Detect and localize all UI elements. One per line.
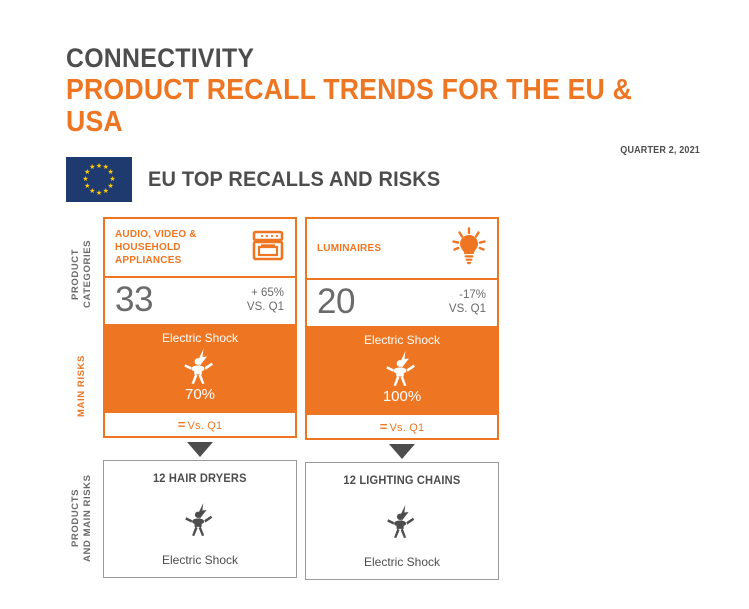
recall-delta-period: VS. Q1: [247, 300, 284, 314]
risk-trend-strip: =Vs. Q1: [307, 413, 497, 438]
recall-delta-value: + 65%: [247, 286, 284, 300]
main-risk-percent: 100%: [307, 388, 497, 406]
product-card[interactable]: 12 HAIR DRYERS Electric Shock: [103, 460, 297, 578]
product-risk-name: Electric Shock: [364, 555, 440, 569]
section-title: EU TOP RECALLS AND RISKS: [148, 168, 440, 192]
product-card[interactable]: 12 LIGHTING CHAINS Electric Shock: [305, 462, 499, 580]
category-count-row: 20 -17% VS. Q1: [307, 280, 497, 326]
main-risk-name: Electric Shock: [105, 330, 295, 346]
electric-shock-icon: [184, 499, 216, 539]
page-title: CONNECTIVITY: [66, 44, 649, 72]
category-name: LUMINAIRES: [317, 242, 381, 255]
lightbulb-icon: [450, 227, 488, 270]
recall-count: 33: [115, 281, 153, 319]
eu-flag-icon: ★★★★★★★★★★★★: [66, 157, 132, 202]
eu-star-icon: ★: [102, 188, 109, 195]
recall-column: LUMINAIRES: [305, 217, 499, 580]
recall-delta: + 65% VS. Q1: [247, 286, 284, 314]
axis-label-main-risks: MAIN RISKS: [76, 335, 88, 437]
category-header: AUDIO, VIDEO & HOUSEHOLD APPLIANCES: [105, 219, 295, 278]
page-subtitle: PRODUCT RECALL TRENDS FOR THE EU & USA: [66, 75, 649, 139]
eu-star-icon: ★: [84, 183, 91, 190]
risk-trend-label: Vs. Q1: [187, 420, 222, 432]
electric-shock-icon: [386, 501, 418, 541]
main-risk-panel: Electric Shock 100%: [307, 326, 497, 413]
risk-trend-label: Vs. Q1: [389, 422, 424, 434]
category-card[interactable]: LUMINAIRES: [305, 217, 499, 440]
category-card[interactable]: AUDIO, VIDEO & HOUSEHOLD APPLIANCES: [103, 217, 297, 438]
risk-trend-strip: =Vs. Q1: [105, 411, 295, 436]
axis-label-product-categories: PRODUCT CATEGORIES: [70, 218, 94, 330]
product-title: 12 LIGHTING CHAINS: [344, 475, 461, 487]
category-header: LUMINAIRES: [307, 219, 497, 280]
trend-equal-icon: =: [380, 419, 388, 434]
chevron-down-icon: [389, 444, 415, 459]
trend-equal-icon: =: [178, 417, 186, 432]
main-risk-panel: Electric Shock 70%: [105, 324, 295, 411]
recall-column: AUDIO, VIDEO & HOUSEHOLD APPLIANCES: [103, 217, 297, 580]
recall-delta: -17% VS. Q1: [449, 288, 486, 316]
electric-shock-icon: [307, 349, 497, 387]
section-header: ★★★★★★★★★★★★ EU TOP RECALLS AND RISKS: [66, 157, 456, 202]
main-risk-percent: 70%: [105, 386, 295, 404]
axis-label-products-and-main-risks: PRODUCTS AND MAIN RISKS: [70, 455, 94, 581]
recall-card-grid: AUDIO, VIDEO & HOUSEHOLD APPLIANCES: [103, 217, 499, 580]
eu-star-icon: ★: [96, 190, 103, 197]
main-risk-name: Electric Shock: [307, 332, 497, 348]
flow-arrow-row: [305, 440, 499, 462]
chevron-down-icon: [187, 442, 213, 457]
page-header: CONNECTIVITY PRODUCT RECALL TRENDS FOR T…: [66, 44, 700, 156]
recall-count: 20: [317, 283, 355, 321]
product-risk-name: Electric Shock: [162, 553, 238, 567]
recall-delta-value: -17%: [449, 288, 486, 302]
product-title: 12 HAIR DRYERS: [153, 473, 247, 485]
oven-icon: [250, 227, 286, 268]
recall-delta-period: VS. Q1: [449, 302, 486, 316]
quarter-label: QUARTER 2, 2021: [129, 145, 700, 156]
eu-star-icon: ★: [89, 164, 96, 171]
category-name: AUDIO, VIDEO & HOUSEHOLD APPLIANCES: [115, 228, 235, 267]
category-count-row: 33 + 65% VS. Q1: [105, 278, 295, 324]
flow-arrow-row: [103, 438, 297, 460]
electric-shock-icon: [105, 347, 295, 385]
eu-star-icon: ★: [82, 176, 89, 183]
